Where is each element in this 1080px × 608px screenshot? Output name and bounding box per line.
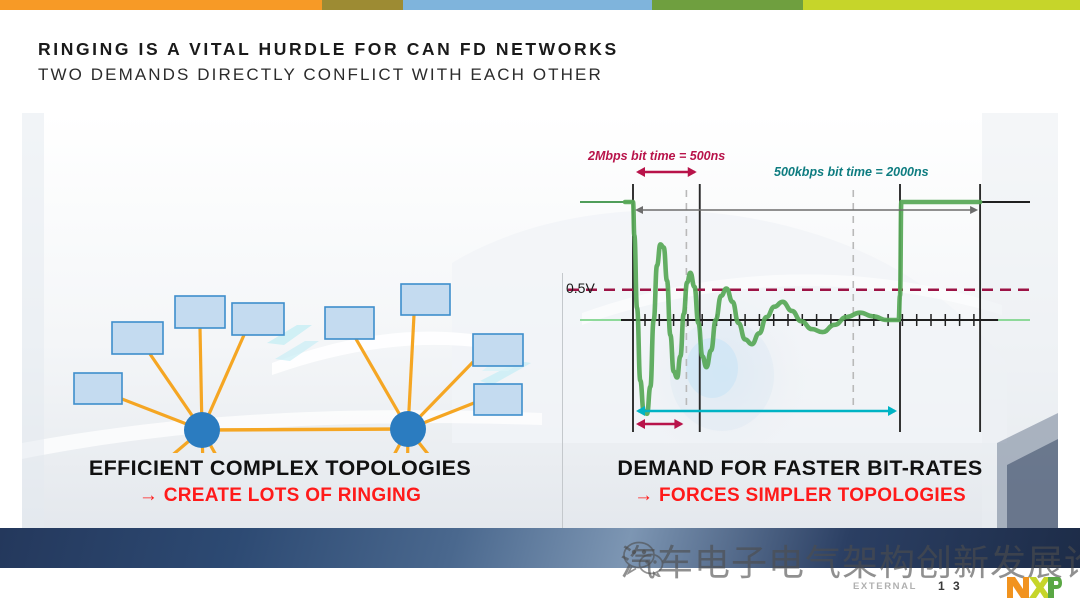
topbar-segment-olive — [322, 0, 403, 10]
right-caption-main: DEMAND FOR FASTER BIT-RATES — [570, 456, 1030, 481]
ringing-waveform-chart — [560, 140, 1060, 440]
page-subtitle: TWO DEMANDS DIRECTLY CONFLICT WITH EACH … — [38, 63, 938, 87]
nxp-logo — [1006, 574, 1062, 600]
topbar-segment-lime — [803, 0, 1080, 10]
chart-arrowhead — [970, 206, 978, 214]
chart-ringing-waveform — [625, 202, 980, 414]
hub-left[interactable] — [184, 412, 220, 448]
right-caption-block: DEMAND FOR FASTER BIT-RATES → FORCES SIM… — [570, 456, 1030, 507]
hub-right[interactable] — [390, 411, 426, 447]
topbar-segment-orange — [0, 0, 322, 10]
chart-arrowhead — [635, 206, 643, 214]
left-caption-main: EFFICIENT COMPLEX TOPOLOGIES — [50, 456, 510, 481]
network-node-box[interactable] — [401, 284, 450, 315]
label-threshold-voltage: 0.5V — [566, 280, 595, 296]
left-caption-block: EFFICIENT COMPLEX TOPOLOGIES → CREATE LO… — [50, 456, 510, 507]
chart-arrowhead — [674, 419, 683, 429]
chart-arrowhead — [688, 167, 697, 177]
external-label: EXTERNAL — [853, 581, 917, 592]
page-title: RINGING IS A VITAL HURDLE FOR CAN FD NET… — [38, 38, 938, 60]
label-500kbps-bit-time: 500kbps bit time = 2000ns — [774, 165, 929, 179]
left-caption-sub: → CREATE LOTS OF RINGING — [50, 485, 510, 507]
right-caption-sub: → FORCES SIMPLER TOPOLOGIES — [570, 485, 1030, 507]
network-topology-diagram — [22, 113, 542, 453]
network-node-box[interactable] — [175, 296, 225, 328]
network-trunk-link — [202, 429, 408, 430]
page-number: 1 3 — [938, 579, 962, 593]
chart-arrowhead — [636, 406, 645, 416]
chart-arrowhead — [636, 419, 645, 429]
network-node-box[interactable] — [112, 322, 163, 354]
network-node-box[interactable] — [474, 384, 522, 415]
network-node-box[interactable] — [74, 373, 122, 404]
chart-arrowhead — [888, 406, 897, 416]
topbar-segment-blue — [403, 0, 652, 10]
chart-arrowhead — [636, 167, 645, 177]
network-node-box[interactable] — [325, 307, 374, 339]
title-block: RINGING IS A VITAL HURDLE FOR CAN FD NET… — [38, 38, 938, 87]
slide-root: RINGING IS A VITAL HURDLE FOR CAN FD NET… — [0, 0, 1080, 608]
network-node-box[interactable] — [232, 303, 284, 335]
top-color-bar — [0, 0, 1080, 10]
network-node-box[interactable] — [473, 334, 523, 366]
label-2mbps-bit-time: 2Mbps bit time = 500ns — [588, 149, 725, 163]
topbar-segment-green — [652, 0, 803, 10]
